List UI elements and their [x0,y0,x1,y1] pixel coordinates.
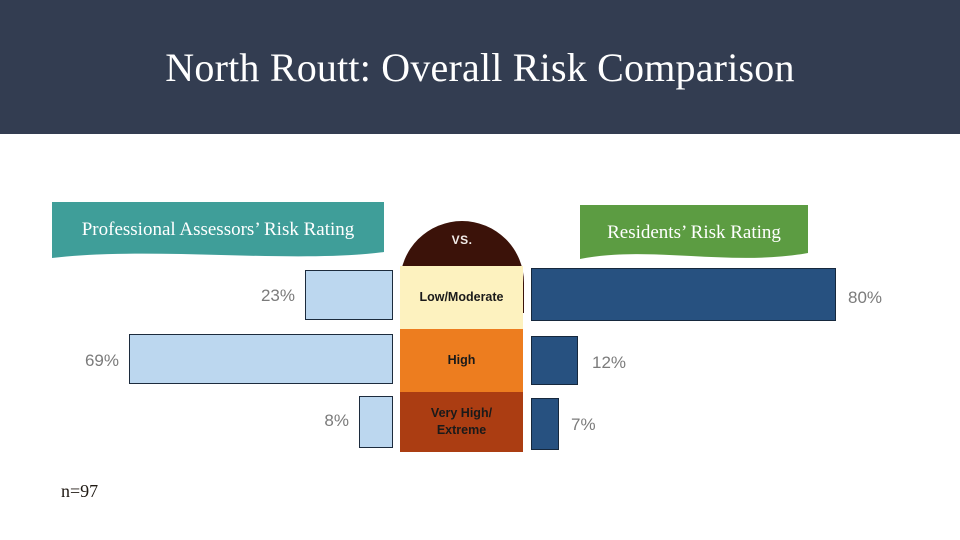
category-band-high: High [400,329,523,392]
category-label-very-high-line1: Very High/ [431,405,492,422]
bar-left-high [129,334,393,384]
value-label-right-high: 12% [592,353,626,373]
bar-right-high [531,336,578,385]
bar-right-very-high-extreme [531,398,559,450]
value-label-left-high: 69% [10,351,119,371]
category-label-high: High [448,352,476,369]
value-label-left-low-moderate: 23% [185,286,295,306]
category-label-very-high-line2: Extreme [437,422,486,439]
value-label-right-very-high-extreme: 7% [571,415,596,435]
sample-size-note: n=97 [61,481,98,502]
category-band-low-moderate: Low/Moderate [400,266,523,329]
category-label-low-moderate: Low/Moderate [419,289,503,306]
value-label-left-very-high-extreme: 8% [239,411,349,431]
bar-left-low-moderate [305,270,393,320]
category-band-very-high-extreme: Very High/ Extreme [400,392,523,452]
risk-comparison-chart: Low/Moderate 23% 80% High 69% 12% Very H… [0,0,960,540]
bar-right-low-moderate [531,268,836,321]
value-label-right-low-moderate: 80% [848,288,882,308]
bar-left-very-high-extreme [359,396,393,448]
slide-canvas: North Routt: Overall Risk Comparison Pro… [0,0,960,540]
